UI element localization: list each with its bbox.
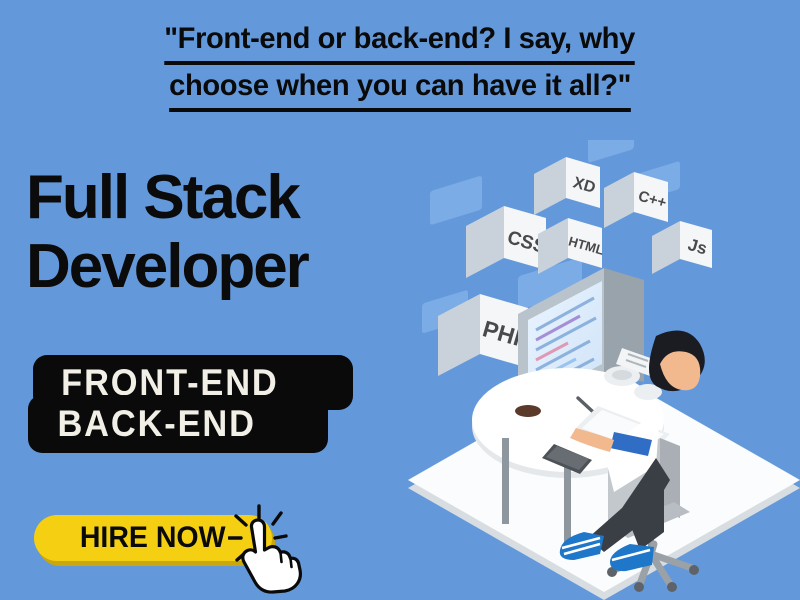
tech-card-js: Js xyxy=(652,221,712,274)
headline-line-2: choose when you can have it all?" xyxy=(169,65,631,112)
headline-line-1: "Front-end or back-end? I say, why xyxy=(165,18,636,65)
page-title-line-2: Developer xyxy=(26,232,308,301)
hire-now-cta[interactable]: HIRE NOW xyxy=(34,515,272,563)
developer-illustration: CSS XD C++ HTML xyxy=(408,140,800,600)
badge-back-end-label: BACK-END xyxy=(57,403,255,445)
tech-card-css: CSS xyxy=(466,206,548,278)
badge-back-end: BACK-END xyxy=(28,395,328,453)
full-stack-developer-banner: "Front-end or back-end? I say, why choos… xyxy=(0,0,800,600)
headline-quote: "Front-end or back-end? I say, why choos… xyxy=(0,18,800,112)
hire-now-button-label: HIRE NOW xyxy=(80,521,226,555)
tech-card-xd: XD xyxy=(534,157,600,215)
tech-card-cpp: C++ xyxy=(604,172,668,228)
hire-now-button[interactable]: HIRE NOW xyxy=(34,515,272,561)
page-title: Full Stack Developer xyxy=(26,163,308,301)
page-title-line-1: Full Stack xyxy=(26,163,308,232)
